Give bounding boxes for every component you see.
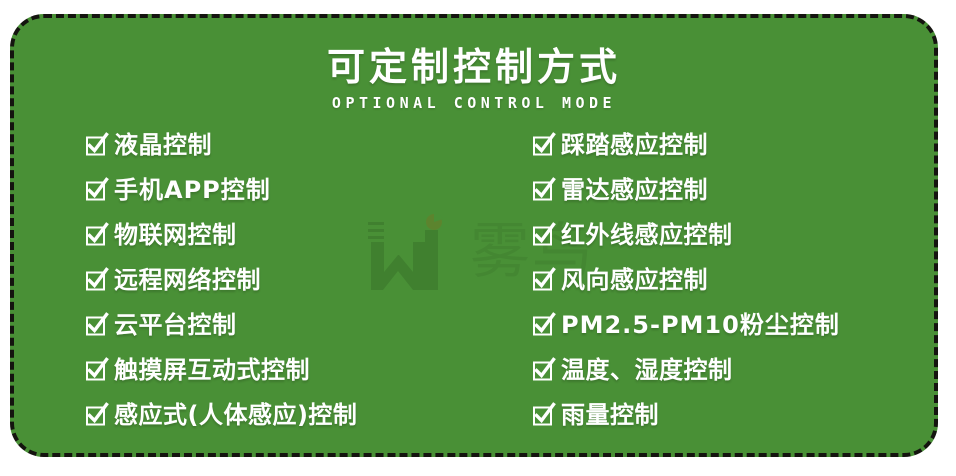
checked-box-icon	[533, 359, 554, 380]
feature-columns: 液晶控制 手机APP控制 物联网控制	[14, 122, 934, 442]
list-item-label: 红外线感应控制	[561, 223, 733, 247]
list-item: 触摸屏互动式控制	[86, 347, 487, 392]
checked-box-icon	[533, 269, 554, 290]
page-title: 可定制控制方式	[14, 46, 934, 90]
checked-box-icon	[533, 224, 554, 245]
list-item: 手机APP控制	[86, 167, 487, 212]
checked-box-icon	[86, 134, 107, 155]
list-item: 红外线感应控制	[533, 212, 934, 257]
checked-box-icon	[86, 269, 107, 290]
list-item-label: 踩踏感应控制	[561, 133, 708, 157]
checked-box-icon	[533, 404, 554, 425]
checked-box-icon	[86, 359, 107, 380]
checked-box-icon	[533, 314, 554, 335]
checked-box-icon	[86, 224, 107, 245]
list-item-label: 触摸屏互动式控制	[114, 358, 310, 382]
card-header: 可定制控制方式 OPTIONAL CONTROL MODE	[14, 18, 934, 112]
list-item-label: 感应式(人体感应)控制	[114, 403, 357, 427]
page-subtitle: OPTIONAL CONTROL MODE	[14, 94, 934, 112]
list-item: 物联网控制	[86, 212, 487, 257]
list-item-label: PM2.5-PM10粉尘控制	[561, 313, 840, 337]
feature-column-right: 踩踏感应控制 雷达感应控制 红外线感应控制	[487, 122, 934, 442]
list-item: 雷达感应控制	[533, 167, 934, 212]
list-item: 踩踏感应控制	[533, 122, 934, 167]
list-item: 感应式(人体感应)控制	[86, 392, 487, 437]
list-item-label: 远程网络控制	[114, 268, 261, 292]
list-item-label: 风向感应控制	[561, 268, 708, 292]
list-item: PM2.5-PM10粉尘控制	[533, 302, 934, 347]
list-item: 雨量控制	[533, 392, 934, 437]
list-item: 温度、湿度控制	[533, 347, 934, 392]
list-item: 云平台控制	[86, 302, 487, 347]
checked-box-icon	[86, 179, 107, 200]
optional-control-mode-card: 雾鸟 可定制控制方式 OPTIONAL CONTROL MODE 液晶控制	[10, 14, 938, 457]
list-item-label: 温度、湿度控制	[561, 358, 733, 382]
list-item-label: 手机APP控制	[114, 178, 271, 202]
list-item-label: 雨量控制	[561, 403, 659, 427]
list-item-label: 云平台控制	[114, 313, 237, 337]
list-item-label: 物联网控制	[114, 223, 237, 247]
poster-root: 雾鸟 可定制控制方式 OPTIONAL CONTROL MODE 液晶控制	[0, 0, 956, 476]
checked-box-icon	[86, 314, 107, 335]
list-item: 远程网络控制	[86, 257, 487, 302]
feature-column-left: 液晶控制 手机APP控制 物联网控制	[14, 122, 487, 442]
checked-box-icon	[533, 179, 554, 200]
list-item-label: 液晶控制	[114, 133, 212, 157]
list-item: 液晶控制	[86, 122, 487, 167]
list-item: 风向感应控制	[533, 257, 934, 302]
checked-box-icon	[86, 404, 107, 425]
checked-box-icon	[533, 134, 554, 155]
list-item-label: 雷达感应控制	[561, 178, 708, 202]
